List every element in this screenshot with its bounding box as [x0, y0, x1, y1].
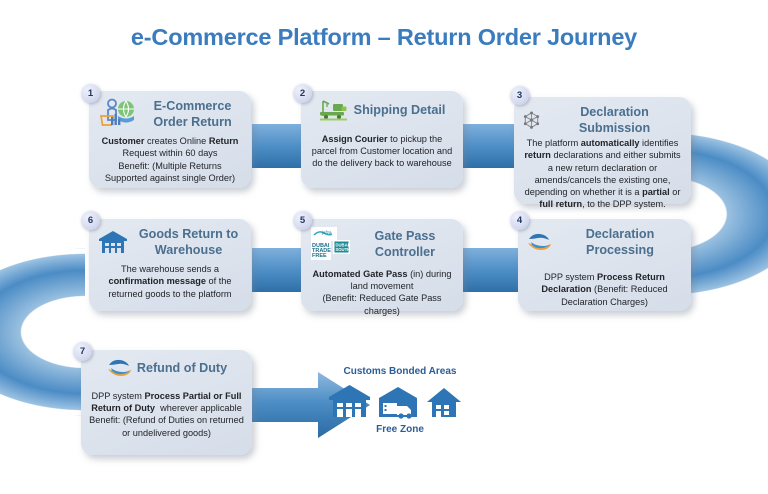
customs-bonded-areas-label: Customs Bonded Areas [320, 366, 480, 377]
step-badge-3: 3 [510, 86, 529, 105]
step-title-6: Goods Return to Warehouse [134, 226, 243, 258]
gatepass-logos-cluster-icon: jafza DUBAI TRADE FREE DUBAI SOUTH [309, 226, 353, 262]
free-zone-label: Free Zone [320, 424, 480, 435]
step-title-5: Gate Pass Controller [355, 228, 455, 260]
step-title-4: Declaration Processing [557, 226, 683, 258]
step-body-4: DPP system Process Return Declaration (B… [526, 271, 683, 308]
dpp-swoosh-logo-icon [526, 231, 552, 253]
step-title-1: E-Commerce Order Return [142, 98, 243, 130]
step-title-7: Refund of Duty [137, 360, 227, 376]
step-title-2: Shipping Detail [354, 102, 446, 118]
house-building-icon [424, 386, 464, 420]
step-body-3: The platform automatically identifies re… [522, 137, 683, 210]
step-card-3[interactable]: Declaration Submission The platform auto… [514, 97, 691, 204]
warehouse-building-icon [327, 382, 372, 420]
step-badge-6: 6 [81, 211, 100, 230]
step-body-1: Customer creates Online Return Request w… [97, 135, 243, 184]
svg-text:jafza: jafza [321, 230, 332, 235]
connector-step2-to-step3 [462, 124, 518, 168]
free-zone-icon-group [327, 382, 464, 420]
step-badge-2: 2 [293, 84, 312, 103]
step-card-7[interactable]: Refund of Duty DPP system Process Partia… [81, 350, 252, 455]
step-body-6: The warehouse sends a confirmation messa… [97, 263, 243, 300]
svg-text:SOUTH: SOUTH [336, 247, 351, 252]
connector-step4-to-step5 [462, 248, 518, 292]
step-badge-1: 1 [81, 84, 100, 103]
step-title-3: Declaration Submission [546, 104, 683, 136]
step-body-7: DPP system Process Partial or Full Retur… [89, 390, 244, 439]
step-header-4: Declaration Processing [526, 226, 683, 258]
ecommerce-customer-globe-icon [97, 98, 137, 130]
page-title: e-Commerce Platform – Return Order Journ… [0, 24, 768, 51]
step-header-1: E-Commerce Order Return [97, 98, 243, 130]
step-card-5[interactable]: jafza DUBAI TRADE FREE DUBAI SOUTH Gate … [301, 219, 463, 311]
shipping-crane-truck-icon [319, 98, 349, 122]
step-card-6[interactable]: Goods Return to Warehouse The warehouse … [89, 219, 251, 311]
connector-step1-to-step2 [252, 124, 308, 168]
step-body-5: Automated Gate Pass (in) during land mov… [309, 268, 455, 317]
step-header-7: Refund of Duty [89, 357, 244, 379]
connector-arc-step6-to-step7 [0, 248, 88, 416]
diagram-canvas: e-Commerce Platform – Return Order Journ… [0, 0, 768, 494]
step-card-4[interactable]: Declaration Processing DPP system Proces… [518, 219, 691, 311]
step-header-2: Shipping Detail [309, 98, 455, 122]
step-card-1[interactable]: E-Commerce Order Return Customer creates… [89, 91, 251, 188]
step-card-2[interactable]: Shipping Detail Assign Courier to pickup… [301, 91, 463, 188]
connector-step5-to-step6 [252, 248, 308, 292]
dpp-swoosh-logo-icon [106, 357, 132, 379]
warehouse-icon [97, 228, 129, 256]
step-badge-5: 5 [293, 211, 312, 230]
step-header-5: jafza DUBAI TRADE FREE DUBAI SOUTH Gate … [309, 226, 455, 262]
step-body-2: Assign Courier to pickup the parcel from… [309, 133, 455, 170]
loading-dock-truck-icon [377, 384, 419, 420]
svg-text:FREE: FREE [312, 253, 327, 259]
step-badge-4: 4 [510, 211, 529, 230]
step-header-3: Declaration Submission [522, 104, 683, 136]
network-hexagon-icon [522, 111, 541, 130]
step-badge-7: 7 [73, 342, 92, 361]
step-header-6: Goods Return to Warehouse [97, 226, 243, 258]
